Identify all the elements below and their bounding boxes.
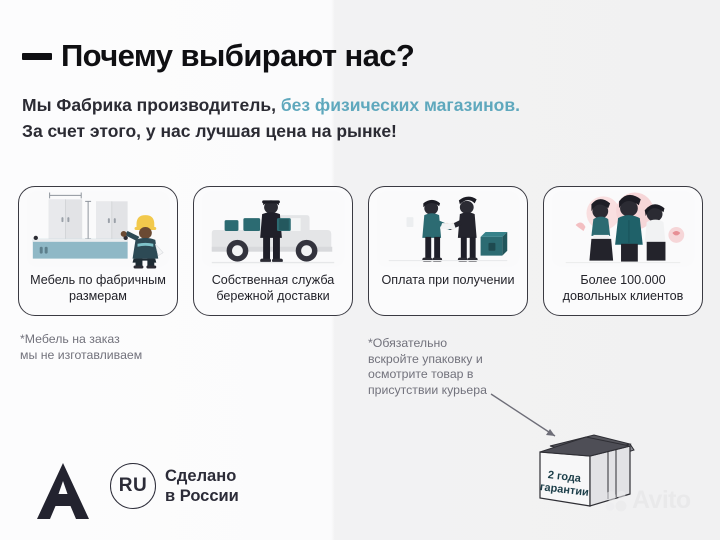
page-title: Почему выбирают нас? (22, 38, 414, 74)
handover-payment-icon (369, 187, 527, 269)
made-in-line2: в России (165, 487, 239, 505)
feature-card-caption: Оплата при получении (375, 273, 521, 289)
feature-card-pay-on-receipt: Оплата при получении (368, 186, 528, 316)
footnote-open-package: *Обязательно вскройте упаковку и осмотри… (368, 336, 487, 398)
subheading-line2: За счет этого, у нас лучшая цена на рынк… (22, 121, 397, 141)
footnote-line: вскройте упаковку и (368, 352, 483, 366)
footnote-custom-furniture: *Мебель на заказ мы не изготавливаем (20, 332, 142, 363)
avito-watermark-text: Avito (632, 486, 691, 515)
footnote-line: *Обязательно (368, 336, 447, 350)
made-in-russia-text: Сделано в России (165, 466, 239, 506)
infographic-canvas: Почему выбирают нас? Мы Фабрика производ… (0, 0, 720, 540)
footnote-line: осмотрите товар в (368, 367, 473, 381)
brand-logo-a-icon (32, 460, 94, 522)
worker-measuring-wardrobe-icon (19, 187, 177, 269)
feature-card-caption: Мебель по фабричным размерам (25, 273, 171, 304)
made-in-line1: Сделано (165, 467, 236, 485)
footnote-line: *Мебель на заказ (20, 332, 120, 346)
avito-watermark: Avito (604, 486, 691, 515)
made-in-russia-badge: RU Сделано в России (110, 463, 239, 509)
title-dash-icon (22, 53, 52, 60)
footnote-line: присутствии курьера (368, 383, 487, 397)
page-title-text: Почему выбирают нас? (61, 38, 414, 74)
group-of-clients-icon (544, 187, 702, 269)
subheading-line1-plain: Мы Фабрика производитель, (22, 95, 281, 115)
feature-card-happy-clients: Более 100.000 довольных клиентов (543, 186, 703, 316)
subheading-line1-accent: без физических магазинов. (281, 95, 520, 115)
feature-card-caption: Более 100.000 довольных клиентов (550, 273, 696, 304)
feature-card-own-delivery: Собственная служба бережной доставки (193, 186, 353, 316)
feature-card-factory-sizes: Мебель по фабричным размерам (18, 186, 178, 316)
feature-card-caption: Собственная служба бережной доставки (200, 273, 346, 304)
footnote-line: мы не изготавливаем (20, 348, 142, 362)
ru-code-circle: RU (110, 463, 156, 509)
subheading: Мы Фабрика производитель, без физических… (22, 92, 520, 144)
delivery-truck-courier-icon (194, 187, 352, 269)
avito-dots-icon (604, 489, 628, 513)
